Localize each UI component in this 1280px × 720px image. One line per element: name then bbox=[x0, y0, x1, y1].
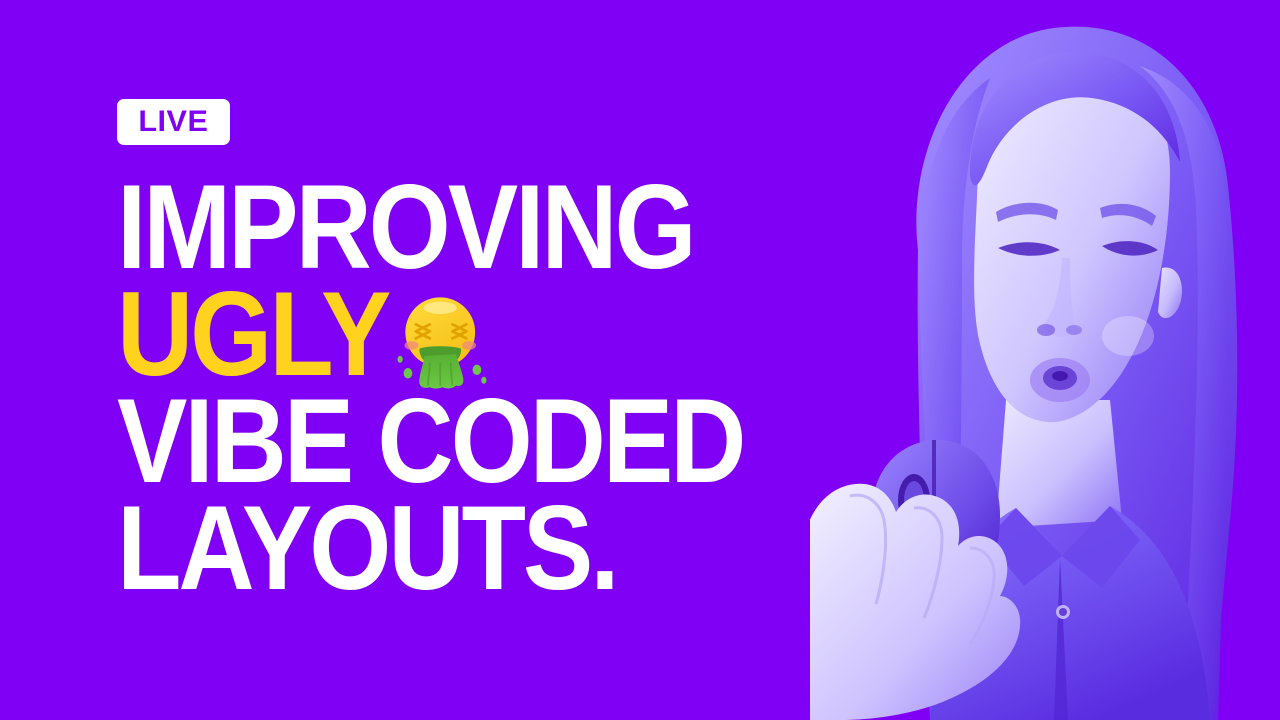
thumbnail-text-content: LIVE IMPROVING UGLY bbox=[117, 0, 897, 720]
headline-line-1: IMPROVING bbox=[117, 174, 803, 281]
headline-line-4: LAYOUTS. bbox=[117, 495, 803, 602]
headline-line-3: VIBE CODED bbox=[117, 388, 803, 495]
live-badge-label: LIVE bbox=[138, 107, 208, 137]
live-badge: LIVE bbox=[117, 99, 230, 145]
video-thumbnail: LIVE IMPROVING UGLY bbox=[0, 0, 1280, 720]
headline-line-4-text: LAYOUTS. bbox=[117, 481, 617, 615]
headline: IMPROVING UGLY bbox=[117, 174, 897, 602]
headline-line-2: UGLY bbox=[117, 281, 803, 388]
